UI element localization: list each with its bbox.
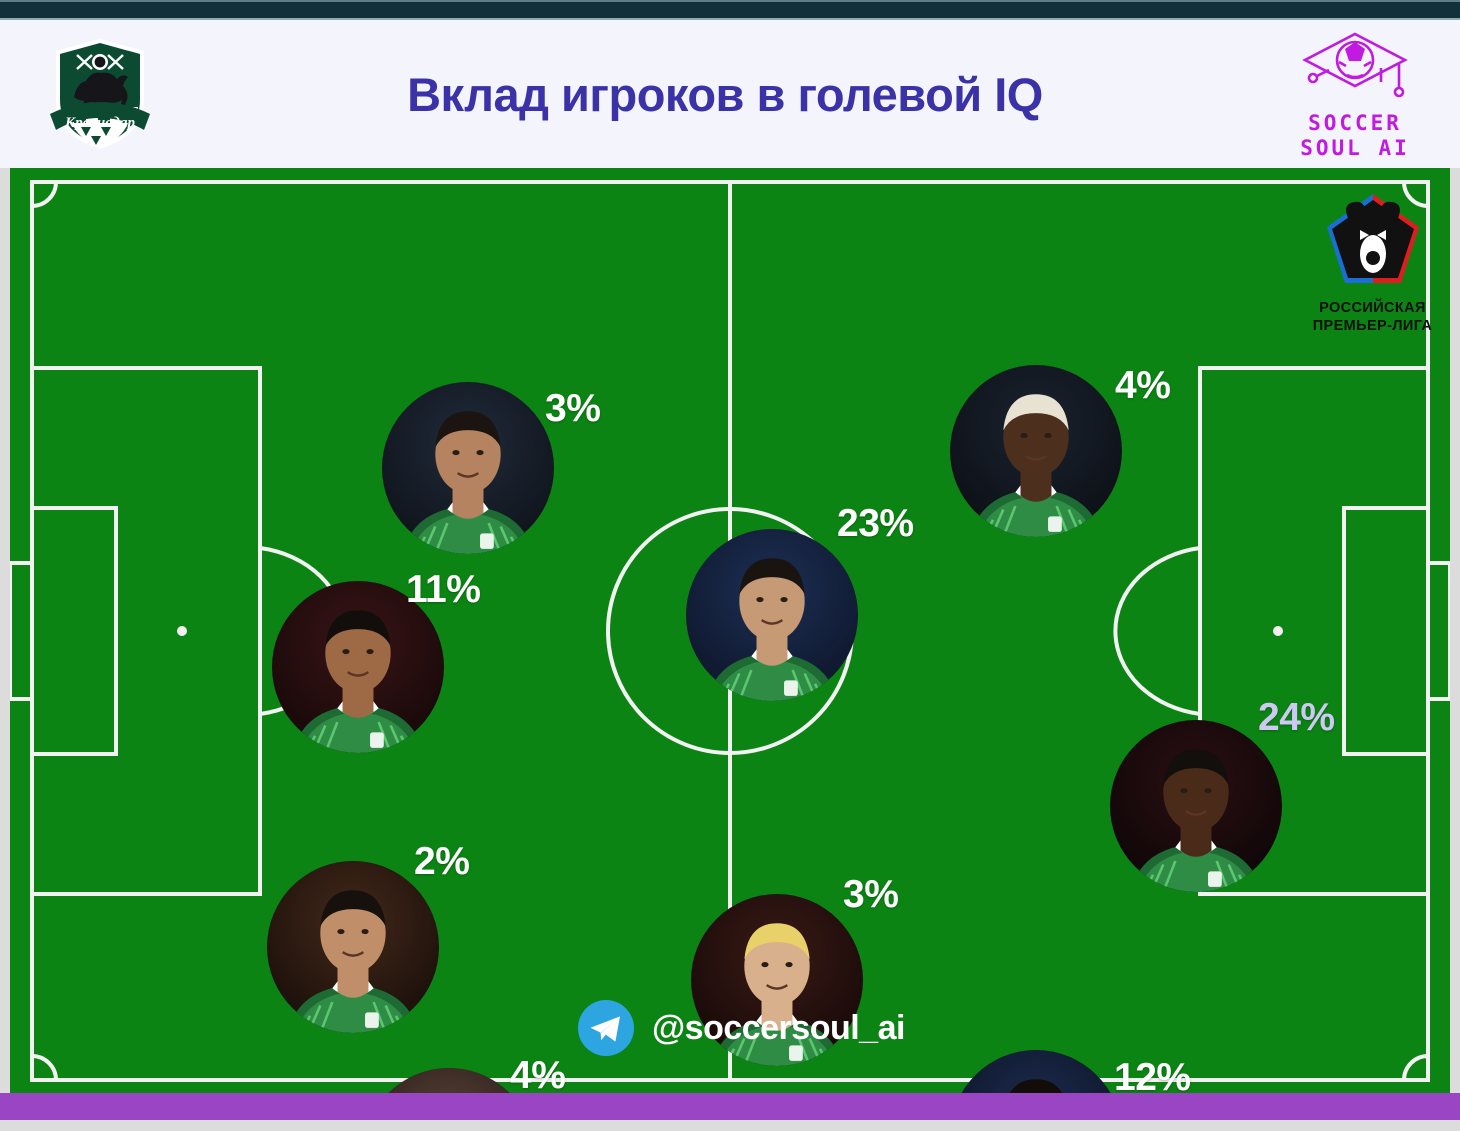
player-portrait-icon xyxy=(1110,720,1282,892)
club-badge: Краснодар xyxy=(0,35,200,153)
player-percentage-p5: 24% xyxy=(1258,696,1335,740)
infographic-page: Краснодар Вклад игроков в голевой IQ xyxy=(0,0,1460,1131)
player-percentage-p1: 3% xyxy=(545,387,600,431)
bottom-gray-strip xyxy=(0,1120,1460,1131)
brand-line-1: SOCCER xyxy=(1295,111,1415,135)
top-window-bar xyxy=(0,0,1460,20)
telegram-icon xyxy=(578,1000,634,1056)
rpl-line-1: РОССИЙСКАЯ xyxy=(1290,299,1450,317)
graduation-cap-soccer-ball-icon xyxy=(1295,28,1415,106)
brand-logo: SOCCER SOUL AI xyxy=(1250,28,1460,159)
rpl-bear-icon xyxy=(1318,190,1428,290)
header: Краснодар Вклад игроков в голевой IQ xyxy=(0,20,1460,168)
player-percentage-p4: 11% xyxy=(406,568,480,612)
krasnodar-crest-icon: Краснодар xyxy=(46,35,154,153)
club-badge-word: Краснодар xyxy=(64,115,135,131)
player-photo-p3 xyxy=(686,529,858,701)
player-percentage-p8: 4% xyxy=(510,1054,565,1093)
telegram-handle-text: @soccersoul_ai xyxy=(652,1009,905,1048)
player-percentage-p7: 3% xyxy=(843,873,898,917)
brand-line-2: SOUL AI xyxy=(1295,136,1415,160)
rpl-line-2: ПРЕМЬЕР-ЛИГА xyxy=(1290,317,1450,335)
player-photo-p6 xyxy=(267,861,439,1033)
player-portrait-icon xyxy=(686,529,858,701)
page-title: Вклад игроков в голевой IQ xyxy=(407,67,1043,122)
player-percentage-p3: 23% xyxy=(837,502,914,546)
player-percentage-p2: 4% xyxy=(1115,364,1170,408)
player-portrait-icon xyxy=(267,861,439,1033)
social-handle[interactable]: @soccersoul_ai xyxy=(578,1000,905,1056)
player-portrait-icon xyxy=(950,365,1122,537)
player-percentage-p6: 2% xyxy=(414,840,469,884)
player-photo-p2 xyxy=(950,365,1122,537)
player-photo-p5 xyxy=(1110,720,1282,892)
football-pitch: 3%4%23%11%24%2%3%4%12% РОССИЙСКАЯ ПРЕМЬЕ… xyxy=(10,168,1450,1093)
bottom-accent-bar xyxy=(0,1093,1460,1120)
russian-premier-league-badge: РОССИЙСКАЯ ПРЕМЬЕР-ЛИГА xyxy=(1290,190,1450,350)
player-portrait-icon xyxy=(382,382,554,554)
player-photo-p1 xyxy=(382,382,554,554)
page-title-wrap: Вклад игроков в голевой IQ xyxy=(200,67,1250,122)
player-percentage-p9: 12% xyxy=(1114,1056,1191,1093)
